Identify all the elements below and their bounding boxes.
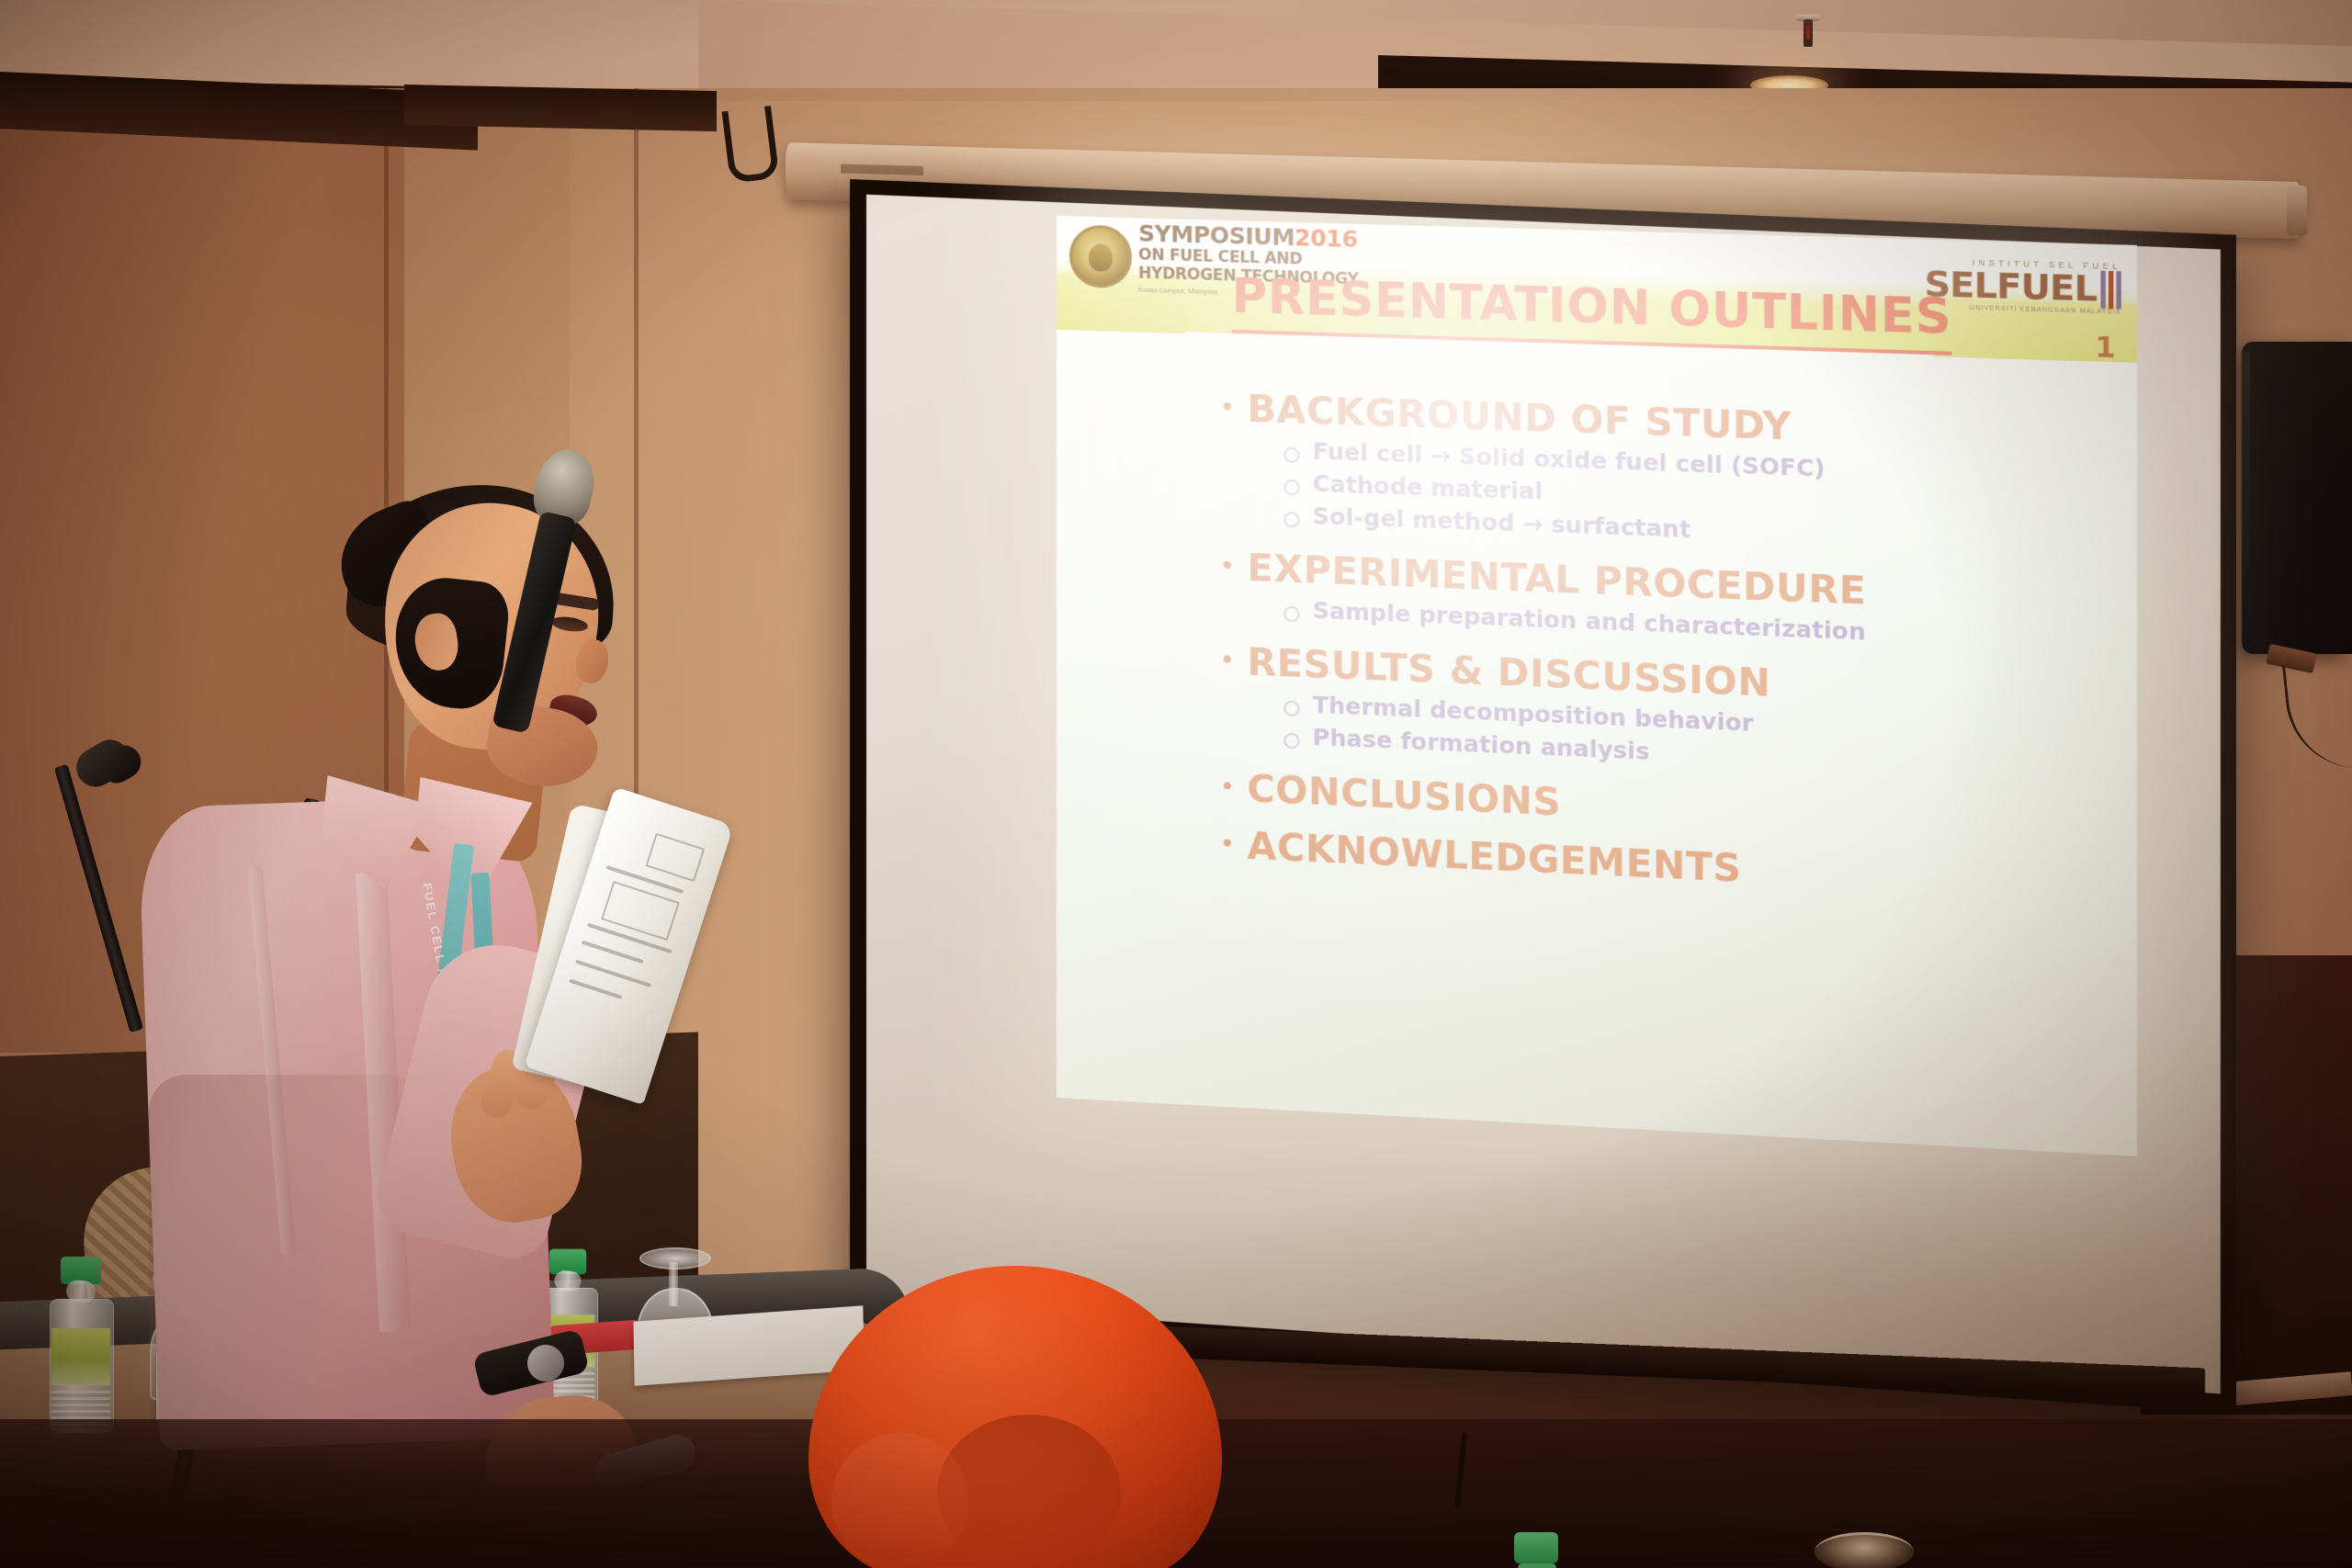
ceiling-wall-corner-mid: [404, 85, 717, 131]
conference-photo-scene: SYMPOSIUM2016 ON FUEL CELL AND HYDROGEN …: [0, 0, 2352, 1568]
bullet-ring-icon: [1283, 447, 1299, 464]
bullet-ring-icon: [1283, 479, 1299, 496]
bullet-dot-icon: •: [1223, 823, 1233, 864]
bullet-dot-icon: •: [1223, 639, 1233, 681]
bottle-cap: [1514, 1532, 1558, 1563]
bullet-ring-icon: [1283, 701, 1299, 717]
bullet-ring-icon: [1283, 733, 1299, 750]
bullet-dot-icon: •: [1223, 546, 1233, 587]
outline-subitem-text: Cathode material: [1313, 469, 1543, 507]
water-bottle: [1507, 1532, 1567, 1568]
bullet-dot-icon: •: [1223, 766, 1233, 807]
bullet-ring-icon: [1283, 606, 1299, 623]
bullet-dot-icon: •: [1223, 387, 1233, 428]
drinking-glass: [1815, 1532, 1914, 1568]
wall-speaker: [2242, 342, 2352, 654]
symposium-logo-year: 2016: [1295, 224, 1358, 253]
housing-endcap: [2287, 186, 2307, 236]
ceiling-hook: [721, 106, 779, 184]
bullet-ring-icon: [1283, 512, 1299, 528]
slide-outline-list: • BACKGROUND OF STUDY Fuel cell → Solid …: [1223, 387, 2098, 911]
housing-brand-label: [841, 164, 923, 175]
projected-slide: SYMPOSIUM2016 ON FUEL CELL AND HYDROGEN …: [1057, 216, 2137, 1156]
fire-sprinkler-icon: [1796, 15, 1820, 59]
